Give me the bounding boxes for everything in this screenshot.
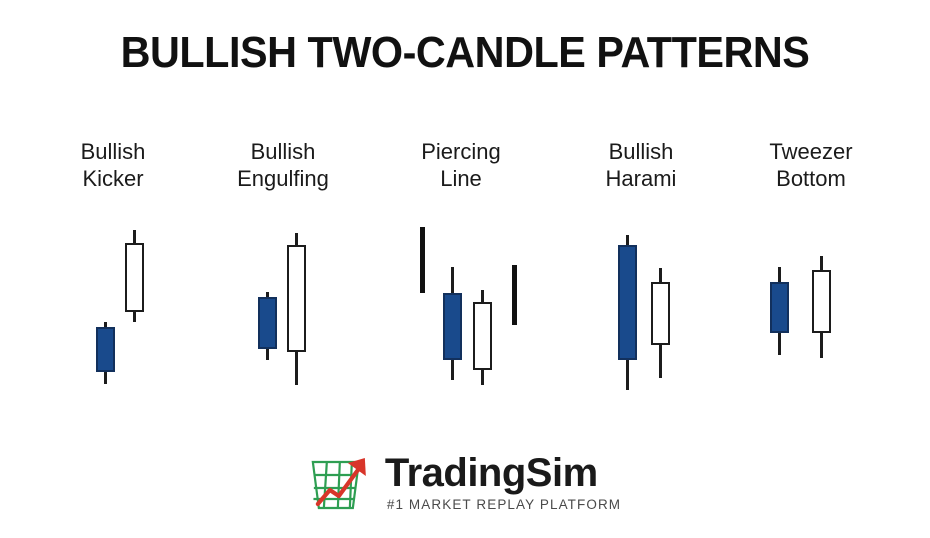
candle-body [812,270,831,333]
page-title: BULLISH TWO-CANDLE PATTERNS [28,28,902,78]
pattern-bullish-harami: Bullish Harami [548,138,734,408]
candle-body [618,245,637,360]
candle-body [473,302,492,370]
pattern-piercing-line: Piercing Line [368,138,554,408]
candle-body [258,297,277,349]
candle-body [770,282,789,333]
candle-body [443,293,462,360]
logo-wordmark: TradingSim [385,452,598,494]
candle-body [287,245,306,352]
candle-stage [20,138,206,408]
pattern-gallery: Bullish KickerBullish EngulfingPiercing … [0,138,930,408]
pattern-tweezer-bottom: Tweezer Bottom [718,138,904,408]
trading-chart-arrow-icon [309,454,375,514]
marubozu-bar-mark [512,265,517,325]
candle-stage [548,138,734,408]
marubozu-bar-mark [420,227,425,293]
pattern-bullish-engulfing: Bullish Engulfing [190,138,376,408]
logo-text-block: TradingSim #1 MARKET REPLAY PLATFORM [385,452,621,513]
logo-tagline: #1 MARKET REPLAY PLATFORM [387,497,621,513]
candle-body [96,327,115,372]
footer-branding: TradingSim #1 MARKET REPLAY PLATFORM [0,452,930,532]
tradingsim-logo: TradingSim #1 MARKET REPLAY PLATFORM [309,452,621,514]
candle-stage [368,138,554,408]
candle-stage [190,138,376,408]
candle-stage [718,138,904,408]
pattern-bullish-kicker: Bullish Kicker [20,138,206,408]
candle-body [125,243,144,312]
candle-body [651,282,670,345]
